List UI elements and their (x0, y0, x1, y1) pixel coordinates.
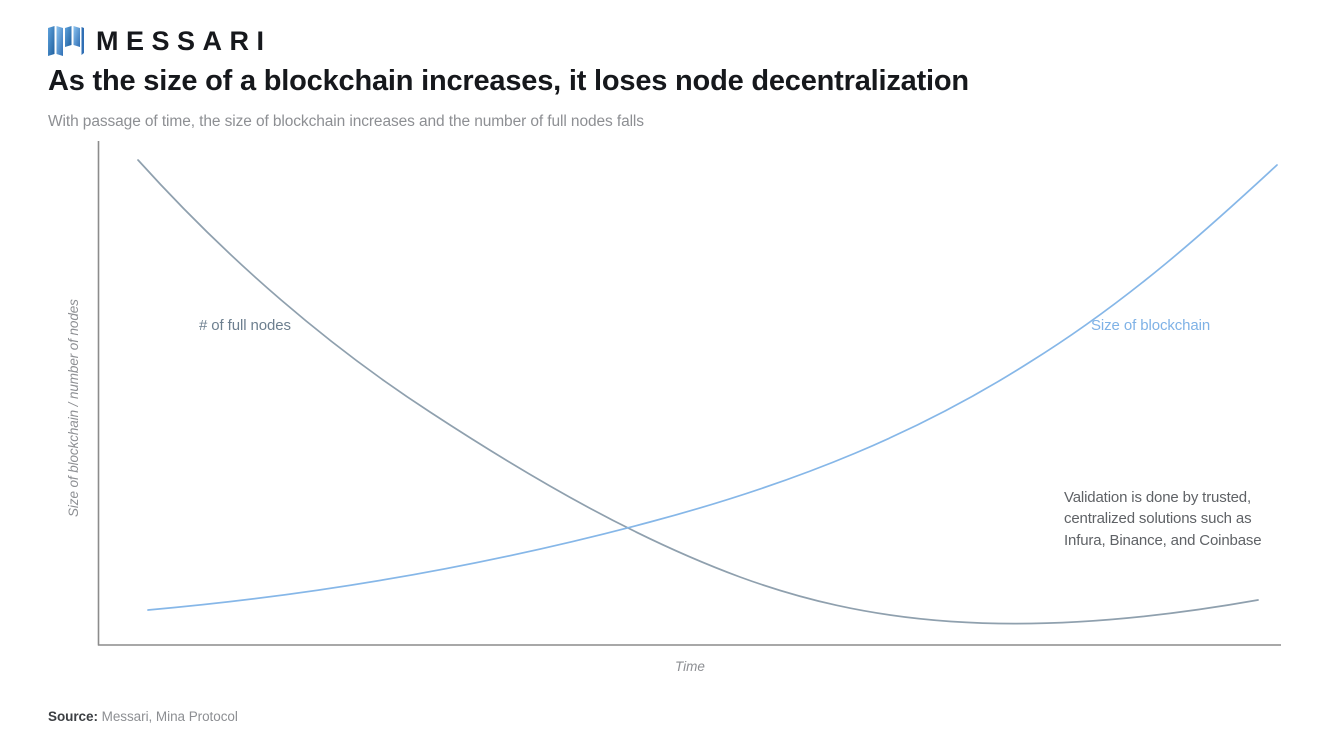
source-footer: Source: Messari, Mina Protocol (48, 709, 238, 724)
page-title: As the size of a blockchain increases, i… (48, 64, 969, 98)
brand-name: MESSARI (96, 28, 272, 55)
page-subtitle: With passage of time, the size of blockc… (48, 112, 644, 132)
source-value: Messari, Mina Protocol (98, 709, 238, 724)
y-axis-title-text: Size of blockchain / number of nodes (66, 299, 81, 517)
line-chart (0, 132, 1321, 692)
chart-container: # of full nodes Size of blockchain (0, 132, 1321, 692)
series-label-full-nodes: # of full nodes (199, 317, 291, 334)
chart-annotation: Validation is done by trusted, centraliz… (1064, 487, 1274, 551)
messari-logo-mark-icon (48, 26, 84, 56)
series-label-blockchain-size: Size of blockchain (1091, 317, 1210, 334)
series-line-full-nodes (138, 160, 1258, 624)
brand-header: MESSARI (48, 24, 272, 58)
chart-page: MESSARI As the size of a blockchain incr… (0, 0, 1321, 754)
source-label: Source: (48, 709, 98, 724)
x-axis-title: Time (640, 659, 740, 674)
